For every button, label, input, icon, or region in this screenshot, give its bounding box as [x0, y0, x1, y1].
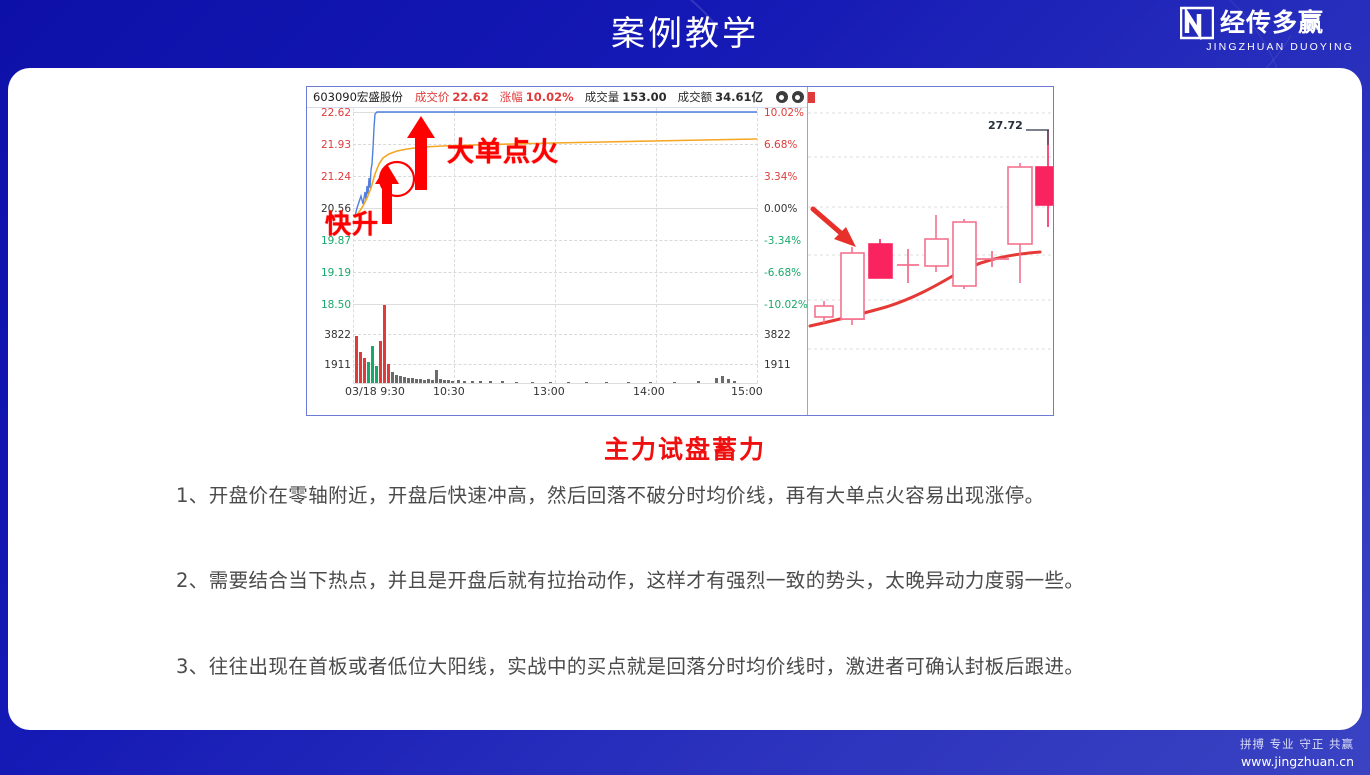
ytick-pct-0: 10.02% — [764, 108, 804, 119]
stock-code-name: 603090宏盛股份 — [313, 89, 403, 105]
amount-value: 34.61亿 — [715, 89, 763, 105]
camera-icon[interactable] — [792, 91, 804, 103]
gear-icon[interactable] — [776, 91, 788, 103]
ytick-vol-r1: 1911 — [764, 360, 791, 371]
kline-pane[interactable]: 27.72 — [808, 87, 1053, 415]
ytick-pct-6: -10.02% — [764, 300, 808, 311]
xtick-1: 10:30 — [433, 385, 465, 398]
amount-label: 成交额 — [678, 89, 713, 105]
brand-logo: 经传多赢 JINGZHUAN DUOYING — [1180, 6, 1356, 58]
content-card: 603090宏盛股份 成交价 22.62 涨幅 10.02% 成交量 153.0… — [8, 68, 1362, 730]
volume-value: 153.00 — [622, 90, 666, 104]
annotation-rise: 快升 — [325, 204, 379, 241]
bullet-point-3: 3、往往出现在首板或者低位大阳线，实战中的买点就是回落分时均价线时，激进者可确认… — [176, 654, 1236, 680]
ytick-price-0: 22.62 — [321, 108, 351, 119]
annotation-fire: 大单点火 — [447, 130, 559, 169]
change-value: 10.02% — [526, 90, 574, 104]
price-label: 成交价 — [415, 89, 450, 105]
change-label: 涨幅 — [500, 89, 523, 105]
page-title: 案例教学 — [0, 6, 1370, 55]
ytick-pct-2: 3.34% — [764, 172, 797, 183]
volume-label: 成交量 — [585, 89, 620, 105]
ytick-pct-5: -6.68% — [764, 268, 801, 279]
bullet-point-2: 2、需要结合当下热点，并且是开盘后就有拉抬动作，这样才有强烈一致的势头，太晚异动… — [176, 568, 1236, 594]
ytick-vol-0: 3822 — [324, 330, 351, 341]
xtick-4: 15:00 — [731, 385, 763, 398]
section-title: 主力试盘蓄力 — [8, 430, 1362, 466]
xtick-0: 03/18 9:30 — [345, 385, 405, 398]
ytick-pct-4: -3.34% — [764, 236, 801, 247]
ytick-price-6: 18.50 — [321, 300, 351, 311]
xtick-3: 14:00 — [633, 385, 665, 398]
page-header: 案例教学 经传多赢 JINGZHUAN DUOYING — [0, 0, 1370, 66]
ytick-price-2: 21.24 — [321, 172, 351, 183]
xtick-2: 13:00 — [533, 385, 565, 398]
footer-slogan: 拼搏 专业 守正 共赢 — [1240, 736, 1354, 752]
price-value: 22.62 — [452, 90, 488, 104]
intraday-pane[interactable]: 603090宏盛股份 成交价 22.62 涨幅 10.02% 成交量 153.0… — [307, 87, 807, 415]
kline-price-label: 27.72 — [988, 119, 1023, 132]
page-footer: 拼搏 专业 守正 共赢 www.jingzhuan.cn — [1240, 736, 1354, 769]
ytick-pct-1: 6.68% — [764, 140, 797, 151]
intraday-plot: 大单点火 — [353, 108, 758, 383]
price-axis-left: 22.62 21.93 21.24 20.56 19.87 19.19 18.5… — [309, 108, 353, 383]
logo-mark-icon — [1180, 6, 1214, 40]
quote-header: 603090宏盛股份 成交价 22.62 涨幅 10.02% 成交量 153.0… — [307, 87, 807, 108]
stock-chart-panel[interactable]: 603090宏盛股份 成交价 22.62 涨幅 10.02% 成交量 153.0… — [306, 86, 1054, 416]
ytick-vol-1: 1911 — [324, 360, 351, 371]
ytick-price-5: 19.19 — [321, 268, 351, 279]
percent-axis-right: 10.02% 6.68% 3.34% 0.00% -3.34% -6.68% -… — [760, 108, 806, 383]
logo-subtitle: JINGZHUAN DUOYING — [1180, 41, 1356, 53]
footer-url: www.jingzhuan.cn — [1240, 754, 1354, 769]
ytick-pct-3: 0.00% — [764, 204, 797, 215]
time-axis: 03/18 9:30 10:30 13:00 14:00 15:00 — [353, 385, 758, 401]
logo-text: 经传多赢 — [1220, 8, 1324, 38]
ytick-vol-r0: 3822 — [764, 330, 791, 341]
ytick-price-1: 21.93 — [321, 140, 351, 151]
kline-chart — [808, 87, 1054, 416]
bullet-point-1: 1、开盘价在零轴附近，开盘后快速冲高，然后回落不破分时均价线，再有大单点火容易出… — [176, 483, 1236, 509]
